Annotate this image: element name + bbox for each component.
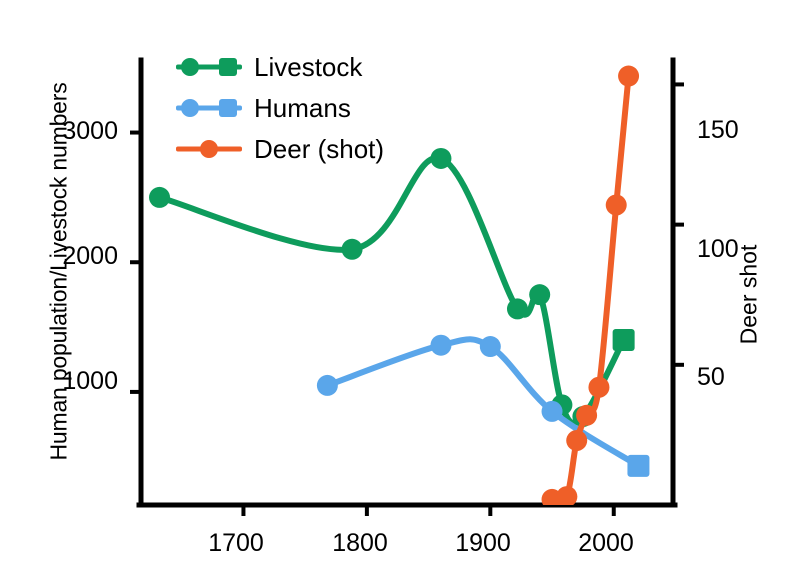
plot-area xyxy=(0,0,796,564)
legend-label-livestock: Livestock xyxy=(254,54,362,80)
chart-figure: Human population/Livestock numbers Deer … xyxy=(0,0,796,564)
legend-swatch-humans xyxy=(176,98,242,118)
series-livestock xyxy=(149,148,635,427)
legend-item-livestock[interactable]: Livestock xyxy=(176,46,384,87)
legend-swatch-livestock xyxy=(176,57,242,77)
chart-legend: Livestock Humans Deer (shot) xyxy=(176,46,384,169)
legend-swatch-deer xyxy=(176,139,242,159)
legend-item-humans[interactable]: Humans xyxy=(176,87,384,128)
legend-label-humans: Humans xyxy=(254,95,351,121)
legend-item-deer[interactable]: Deer (shot) xyxy=(176,128,384,169)
series-deer-shot xyxy=(542,66,640,510)
legend-label-deer: Deer (shot) xyxy=(254,136,384,162)
